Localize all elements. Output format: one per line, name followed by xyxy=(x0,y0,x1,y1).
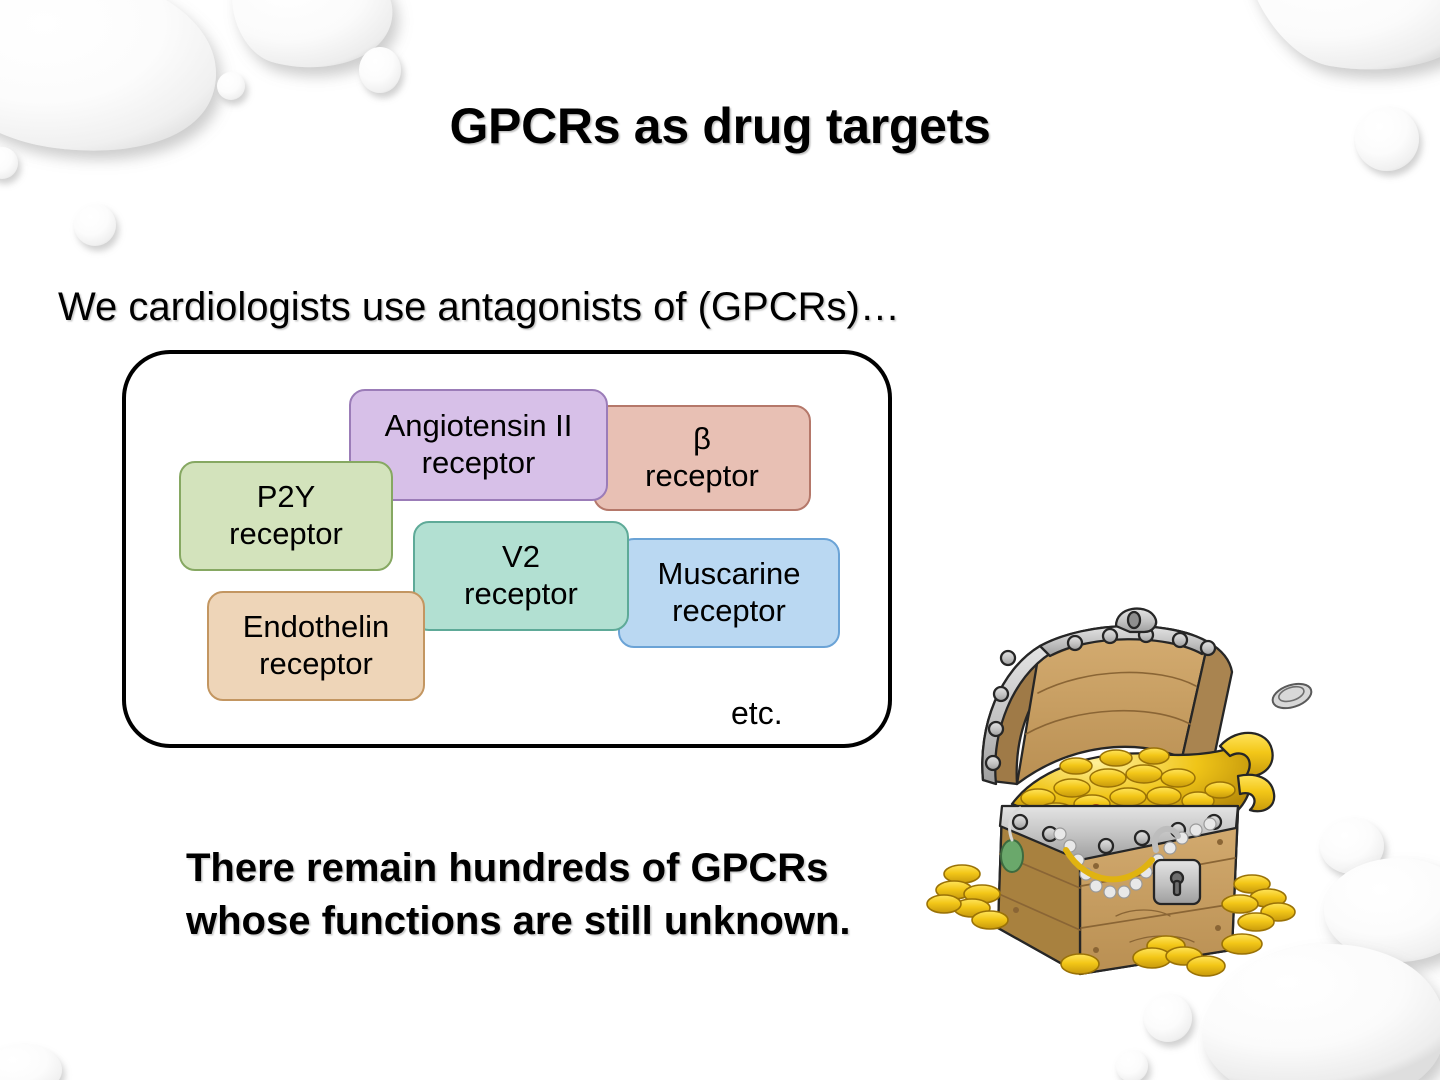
water-droplet-icon xyxy=(232,0,392,67)
treasure-chest-icon xyxy=(920,598,1330,980)
water-droplet-icon xyxy=(359,47,401,93)
water-droplet-icon xyxy=(1324,858,1440,962)
v2-receptor-line1: V2 xyxy=(464,539,578,576)
v2-receptor-label: V2receptor xyxy=(464,539,578,612)
endothelin-receptor-label: Endothelinreceptor xyxy=(243,609,390,682)
water-droplet-icon xyxy=(217,72,245,100)
muscarine-receptor-line2: receptor xyxy=(658,593,801,630)
muscarine-receptor-label: Muscarinereceptor xyxy=(658,556,801,629)
intro-text: We cardiologists use antagonists of (GPC… xyxy=(58,285,900,330)
closing-statement-line1: There remain hundreds of GPCRs xyxy=(186,842,851,895)
endothelin-receptor-line1: Endothelin xyxy=(243,609,390,646)
beta-receptor-label: βreceptor xyxy=(645,421,759,494)
water-droplet-icon xyxy=(1144,994,1192,1042)
p2y-receptor-line2: receptor xyxy=(229,516,343,553)
closing-statement: There remain hundreds of GPCRs whose fun… xyxy=(186,842,851,948)
slide-title: GPCRs as drug targets xyxy=(0,97,1440,155)
p2y-receptor-label: P2Yreceptor xyxy=(229,479,343,552)
muscarine-receptor-line1: Muscarine xyxy=(658,556,801,593)
water-droplet-icon xyxy=(0,1044,62,1080)
beta-receptor-line1: β xyxy=(645,421,759,458)
angiotensin-ii-receptor-line1: Angiotensin II xyxy=(385,408,573,445)
water-droplet-icon xyxy=(1247,0,1440,69)
muscarine-receptor[interactable]: Muscarinereceptor xyxy=(618,538,840,648)
endothelin-receptor[interactable]: Endothelinreceptor xyxy=(207,591,425,701)
p2y-receptor-line1: P2Y xyxy=(229,479,343,516)
etc-label: etc. xyxy=(731,695,783,732)
beta-receptor[interactable]: βreceptor xyxy=(593,405,811,511)
angiotensin-ii-receptor-line2: receptor xyxy=(385,445,573,482)
water-droplet-icon xyxy=(74,204,116,246)
closing-statement-line2: whose functions are still unknown. xyxy=(186,895,851,948)
v2-receptor-line2: receptor xyxy=(464,576,578,613)
angiotensin-ii-receptor-label: Angiotensin IIreceptor xyxy=(385,408,573,481)
endothelin-receptor-line2: receptor xyxy=(243,646,390,683)
p2y-receptor[interactable]: P2Yreceptor xyxy=(179,461,393,571)
slide-canvas: GPCRs as drug targets We cardiologists u… xyxy=(0,0,1440,1080)
v2-receptor[interactable]: V2receptor xyxy=(413,521,629,631)
water-droplet-icon xyxy=(1116,1050,1148,1080)
beta-receptor-line2: receptor xyxy=(645,458,759,495)
